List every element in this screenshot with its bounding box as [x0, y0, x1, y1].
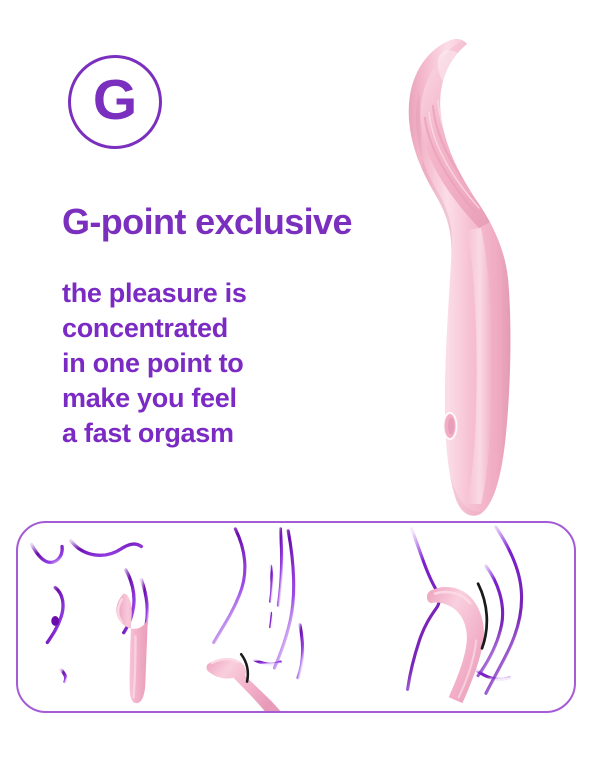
description-line: the pleasure is	[62, 276, 247, 311]
usage-illustration-front-torso	[18, 523, 204, 711]
description-line: in one point to	[62, 346, 247, 381]
usage-illustration-side-profile	[204, 523, 390, 711]
description-line: a fast orgasm	[62, 416, 247, 451]
page-title: G-point exclusive	[62, 201, 352, 243]
usage-illustration-rear-curve	[390, 523, 576, 711]
description-line: concentrated	[62, 311, 247, 346]
usage-illustration-panel	[16, 521, 576, 713]
product-feature-banner: G G-point exclusive the pleasure is conc…	[0, 0, 600, 763]
feature-description: the pleasure is concentrated in one poin…	[62, 276, 247, 451]
power-button-icon	[444, 413, 457, 439]
g-point-badge-icon: G	[68, 55, 162, 149]
product-shape	[427, 584, 487, 703]
badge-letter: G	[93, 72, 137, 129]
g-spot-vibrator-product-image	[395, 22, 595, 522]
description-line: make you feel	[62, 381, 247, 416]
